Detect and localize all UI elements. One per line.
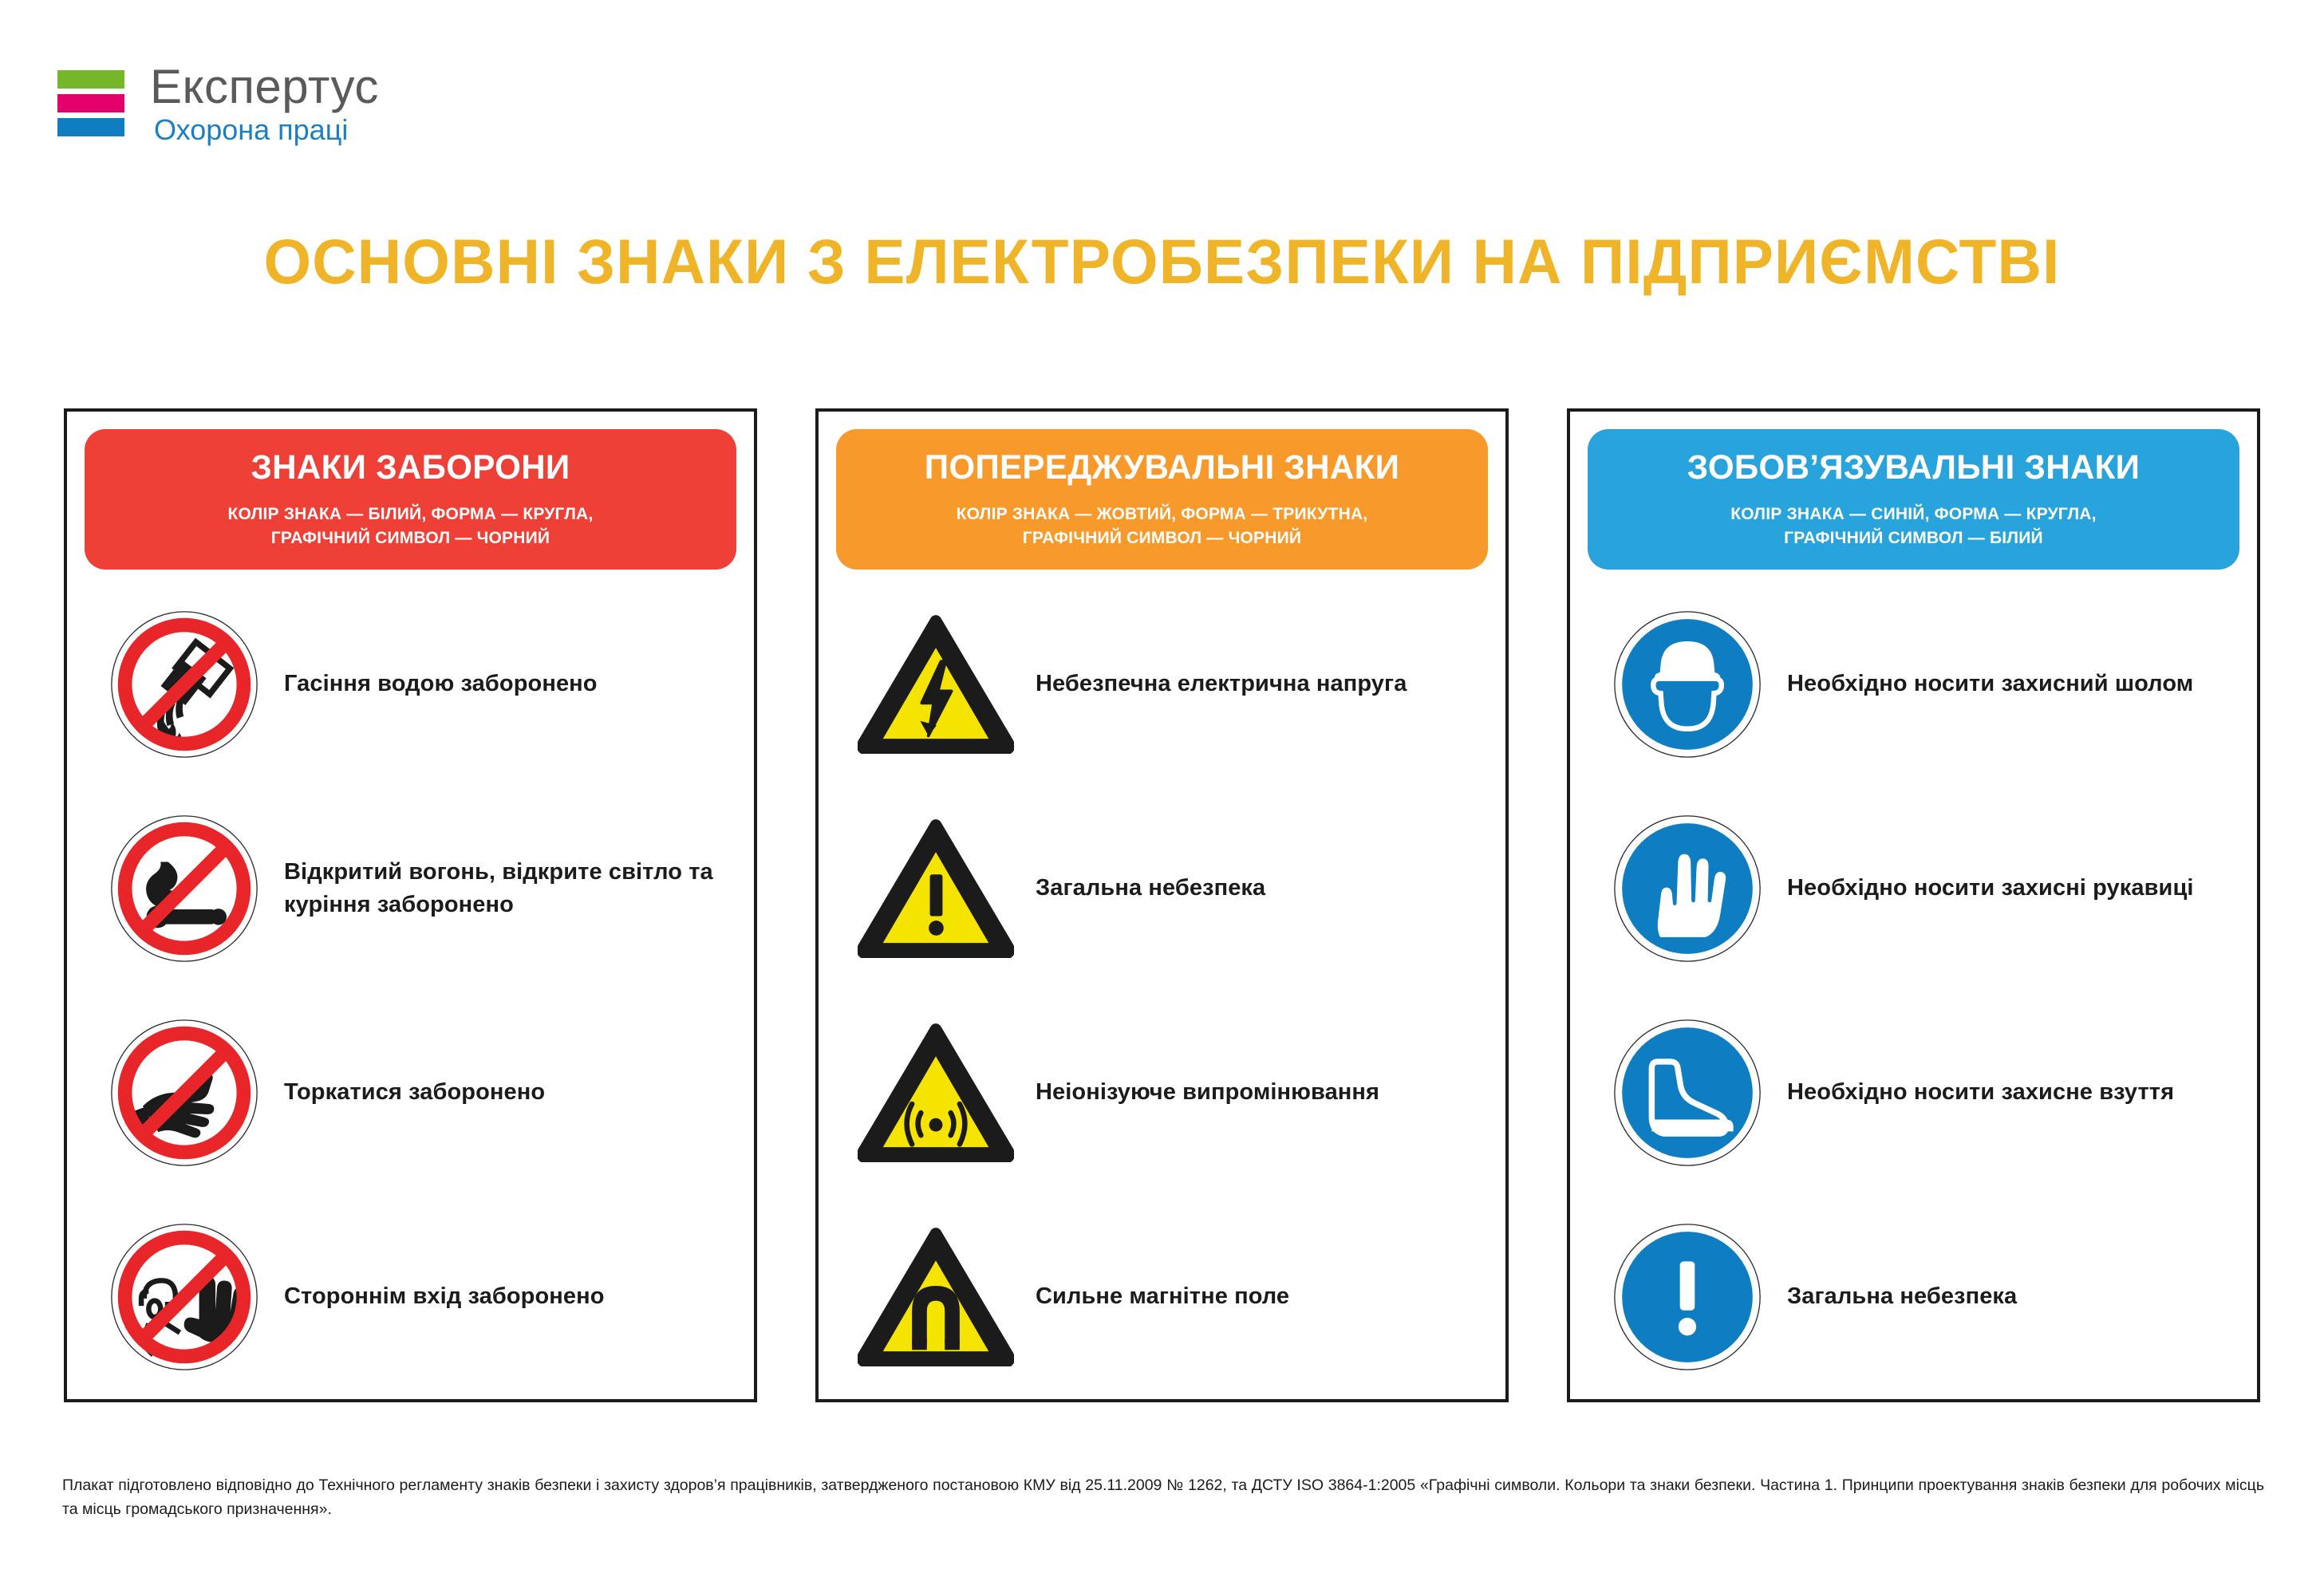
sign-label: Необхідно носити захисне взуття — [1787, 1076, 2182, 1109]
category-subheading-line2: ГРАФІЧНИЙ СИМВОЛ — ЧОРНИЙ — [1023, 529, 1301, 547]
no-unauthorized-entry-icon — [85, 1223, 284, 1371]
brand-name: Експертус — [150, 62, 379, 111]
category-header-prohibition: ЗНАКИ ЗАБОРОНИКОЛІР ЗНАКА — БІЛИЙ, ФОРМА… — [85, 429, 736, 570]
sign-label: Необхідно носити захисний шолом — [1787, 668, 2201, 700]
sign-row: Неіонізуюче випромінювання — [836, 991, 1488, 1195]
sign-label: Сильне магнітне поле — [1036, 1280, 1297, 1313]
category-subheading-line2: ГРАФІЧНИЙ СИМВОЛ — ЧОРНИЙ — [271, 529, 550, 547]
general-danger-mandatory-icon — [1588, 1223, 1787, 1371]
category-subheading-line1: КОЛІР ЗНАКА — СИНІЙ, ФОРМА — КРУГЛА, — [1730, 505, 2096, 523]
category-card-prohibition: ЗНАКИ ЗАБОРОНИКОЛІР ЗНАКА — БІЛИЙ, ФОРМА… — [64, 408, 757, 1402]
category-subheading-line2: ГРАФІЧНИЙ СИМВОЛ — БІЛИЙ — [1784, 529, 2043, 547]
sign-label: Відкритий вогонь, відкрите світло та кур… — [284, 856, 736, 921]
sign-row: Необхідно носити захисний шолом — [1588, 582, 2239, 787]
poster-page: Експертус Охорона праці ОСНОВНІ ЗНАКИ З … — [0, 0, 2324, 1577]
sign-label: Стороннім вхід заборонено — [284, 1280, 613, 1313]
logo-bars-icon — [57, 70, 124, 136]
sign-list: Необхідно носити захисний шолом Необхідн… — [1588, 570, 2239, 1399]
strong-magnetic-field-icon — [836, 1228, 1036, 1366]
category-heading: ЗОБОВ’ЯЗУВАЛЬНІ ЗНАКИ — [1608, 450, 2219, 486]
non-ionizing-radiation-icon — [836, 1023, 1036, 1162]
sign-label: Загальна небезпека — [1036, 872, 1273, 905]
do-not-touch-icon — [85, 1019, 284, 1167]
sign-categories: ЗНАКИ ЗАБОРОНИКОЛІР ЗНАКА — БІЛИЙ, ФОРМА… — [64, 408, 2260, 1402]
no-water-extinguishing-icon — [85, 610, 284, 759]
sign-row: Загальна небезпека — [836, 787, 1488, 991]
category-heading: ЗНАКИ ЗАБОРОНИ — [105, 450, 716, 486]
category-subheading: КОЛІР ЗНАКА — ЖОВТИЙ, ФОРМА — ТРИКУТНА,Г… — [850, 503, 1474, 550]
brand-tagline: Охорона праці — [154, 114, 379, 146]
page-title: ОСНОВНІ ЗНАКИ З ЕЛЕКТРОБЕЗПЕКИ НА ПІДПРИ… — [35, 225, 2290, 298]
general-danger-icon — [836, 819, 1036, 958]
brand-logo: Експертус Охорона праці — [57, 62, 379, 146]
brand-text: Експертус Охорона праці — [150, 62, 379, 146]
footer-note: Плакат підготовлено відповідно до Техніч… — [62, 1474, 2264, 1521]
sign-row: Відкритий вогонь, відкрите світло та кур… — [85, 787, 736, 991]
electric-voltage-icon — [836, 615, 1036, 754]
sign-row: Небезпечна електрична напруга — [836, 582, 1488, 787]
category-card-warning: ПОПЕРЕДЖУВАЛЬНІ ЗНАКИКОЛІР ЗНАКА — ЖОВТИ… — [815, 408, 1509, 1402]
sign-label: Торкатися заборонено — [284, 1076, 553, 1109]
wear-safety-boots-icon — [1588, 1019, 1787, 1167]
sign-label: Гасіння водою заборонено — [284, 668, 606, 700]
sign-row: Загальна небезпека — [1588, 1195, 2239, 1399]
no-open-flame-icon — [85, 814, 284, 963]
sign-list: Гасіння водою заборонено Відкритий вогон… — [85, 570, 736, 1399]
category-subheading: КОЛІР ЗНАКА — БІЛИЙ, ФОРМА — КРУГЛА,ГРАФ… — [99, 503, 722, 550]
sign-row: Стороннім вхід заборонено — [85, 1195, 736, 1399]
sign-row: Необхідно носити захисне взуття — [1588, 991, 2239, 1195]
category-subheading-line1: КОЛІР ЗНАКА — ЖОВТИЙ, ФОРМА — ТРИКУТНА, — [957, 505, 1368, 523]
sign-label: Неіонізуюче випромінювання — [1036, 1076, 1387, 1109]
wear-protective-gloves-icon — [1588, 814, 1787, 963]
category-header-warning: ПОПЕРЕДЖУВАЛЬНІ ЗНАКИКОЛІР ЗНАКА — ЖОВТИ… — [836, 429, 1488, 570]
sign-label: Необхідно носити захисні рукавиці — [1787, 872, 2202, 905]
sign-row: Гасіння водою заборонено — [85, 582, 736, 787]
sign-row: Торкатися заборонено — [85, 991, 736, 1195]
category-heading: ПОПЕРЕДЖУВАЛЬНІ ЗНАКИ — [857, 450, 1467, 486]
category-subheading-line1: КОЛІР ЗНАКА — БІЛИЙ, ФОРМА — КРУГЛА, — [228, 505, 594, 523]
sign-list: Небезпечна електрична напруга Загальна н… — [836, 570, 1488, 1399]
wear-hard-hat-icon — [1588, 610, 1787, 759]
category-card-mandatory: ЗОБОВ’ЯЗУВАЛЬНІ ЗНАКИКОЛІР ЗНАКА — СИНІЙ… — [1567, 408, 2260, 1402]
sign-label: Небезпечна електрична напруга — [1036, 668, 1415, 700]
sign-row: Необхідно носити захисні рукавиці — [1588, 787, 2239, 991]
category-header-mandatory: ЗОБОВ’ЯЗУВАЛЬНІ ЗНАКИКОЛІР ЗНАКА — СИНІЙ… — [1588, 429, 2239, 570]
sign-row: Сильне магнітне поле — [836, 1195, 1488, 1399]
sign-label: Загальна небезпека — [1787, 1280, 2025, 1313]
category-subheading: КОЛІР ЗНАКА — СИНІЙ, ФОРМА — КРУГЛА,ГРАФ… — [1602, 503, 2225, 550]
